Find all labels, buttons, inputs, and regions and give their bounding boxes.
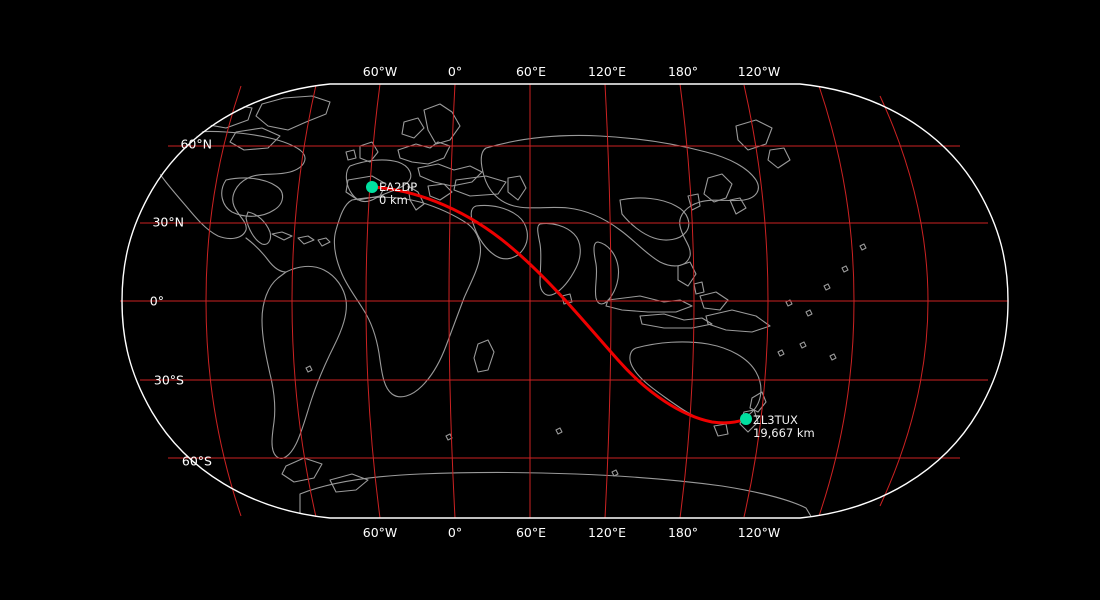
station-label-destination: ZL3TUX 19,667 km xyxy=(753,414,815,440)
lon-label-bottom-1: 0° xyxy=(448,525,462,540)
lon-label-top-2: 60°E xyxy=(516,64,546,79)
lon-label-top-1: 0° xyxy=(448,64,462,79)
lon-label-top-3: 120°E xyxy=(588,64,626,79)
station-marker-origin[interactable] xyxy=(366,181,378,193)
lat-label-60N: 60°N xyxy=(180,137,212,152)
station-marker-destination[interactable] xyxy=(740,413,752,425)
lat-label-30N: 30°N xyxy=(152,215,184,230)
lat-label-60S: 60°S xyxy=(182,454,212,469)
lon-label-bottom-0: 60°W xyxy=(363,525,398,540)
lat-label-30S: 30°S xyxy=(154,373,184,388)
map-figure: Robinson Projection IN83 to RE66HO (89°T… xyxy=(0,0,1100,600)
lat-label-0: 0° xyxy=(150,294,164,309)
lon-label-top-4: 180° xyxy=(668,64,698,79)
map-canvas[interactable]: 60°W 0° 60°E 120°E 180° 120°W 60°W 0° 60… xyxy=(0,0,1100,600)
lon-label-bottom-3: 120°E xyxy=(588,525,626,540)
lon-label-top-5: 120°W xyxy=(738,64,780,79)
map-svg xyxy=(0,0,1100,600)
lon-label-bottom-4: 180° xyxy=(668,525,698,540)
station-distance-origin: 0 km xyxy=(379,194,417,207)
station-label-origin: EA2DP 0 km xyxy=(379,181,417,207)
station-distance-destination: 19,667 km xyxy=(753,427,815,440)
lon-label-top-0: 60°W xyxy=(363,64,398,79)
lon-label-bottom-5: 120°W xyxy=(738,525,780,540)
lon-label-bottom-2: 60°E xyxy=(516,525,546,540)
map-background xyxy=(0,0,1100,600)
